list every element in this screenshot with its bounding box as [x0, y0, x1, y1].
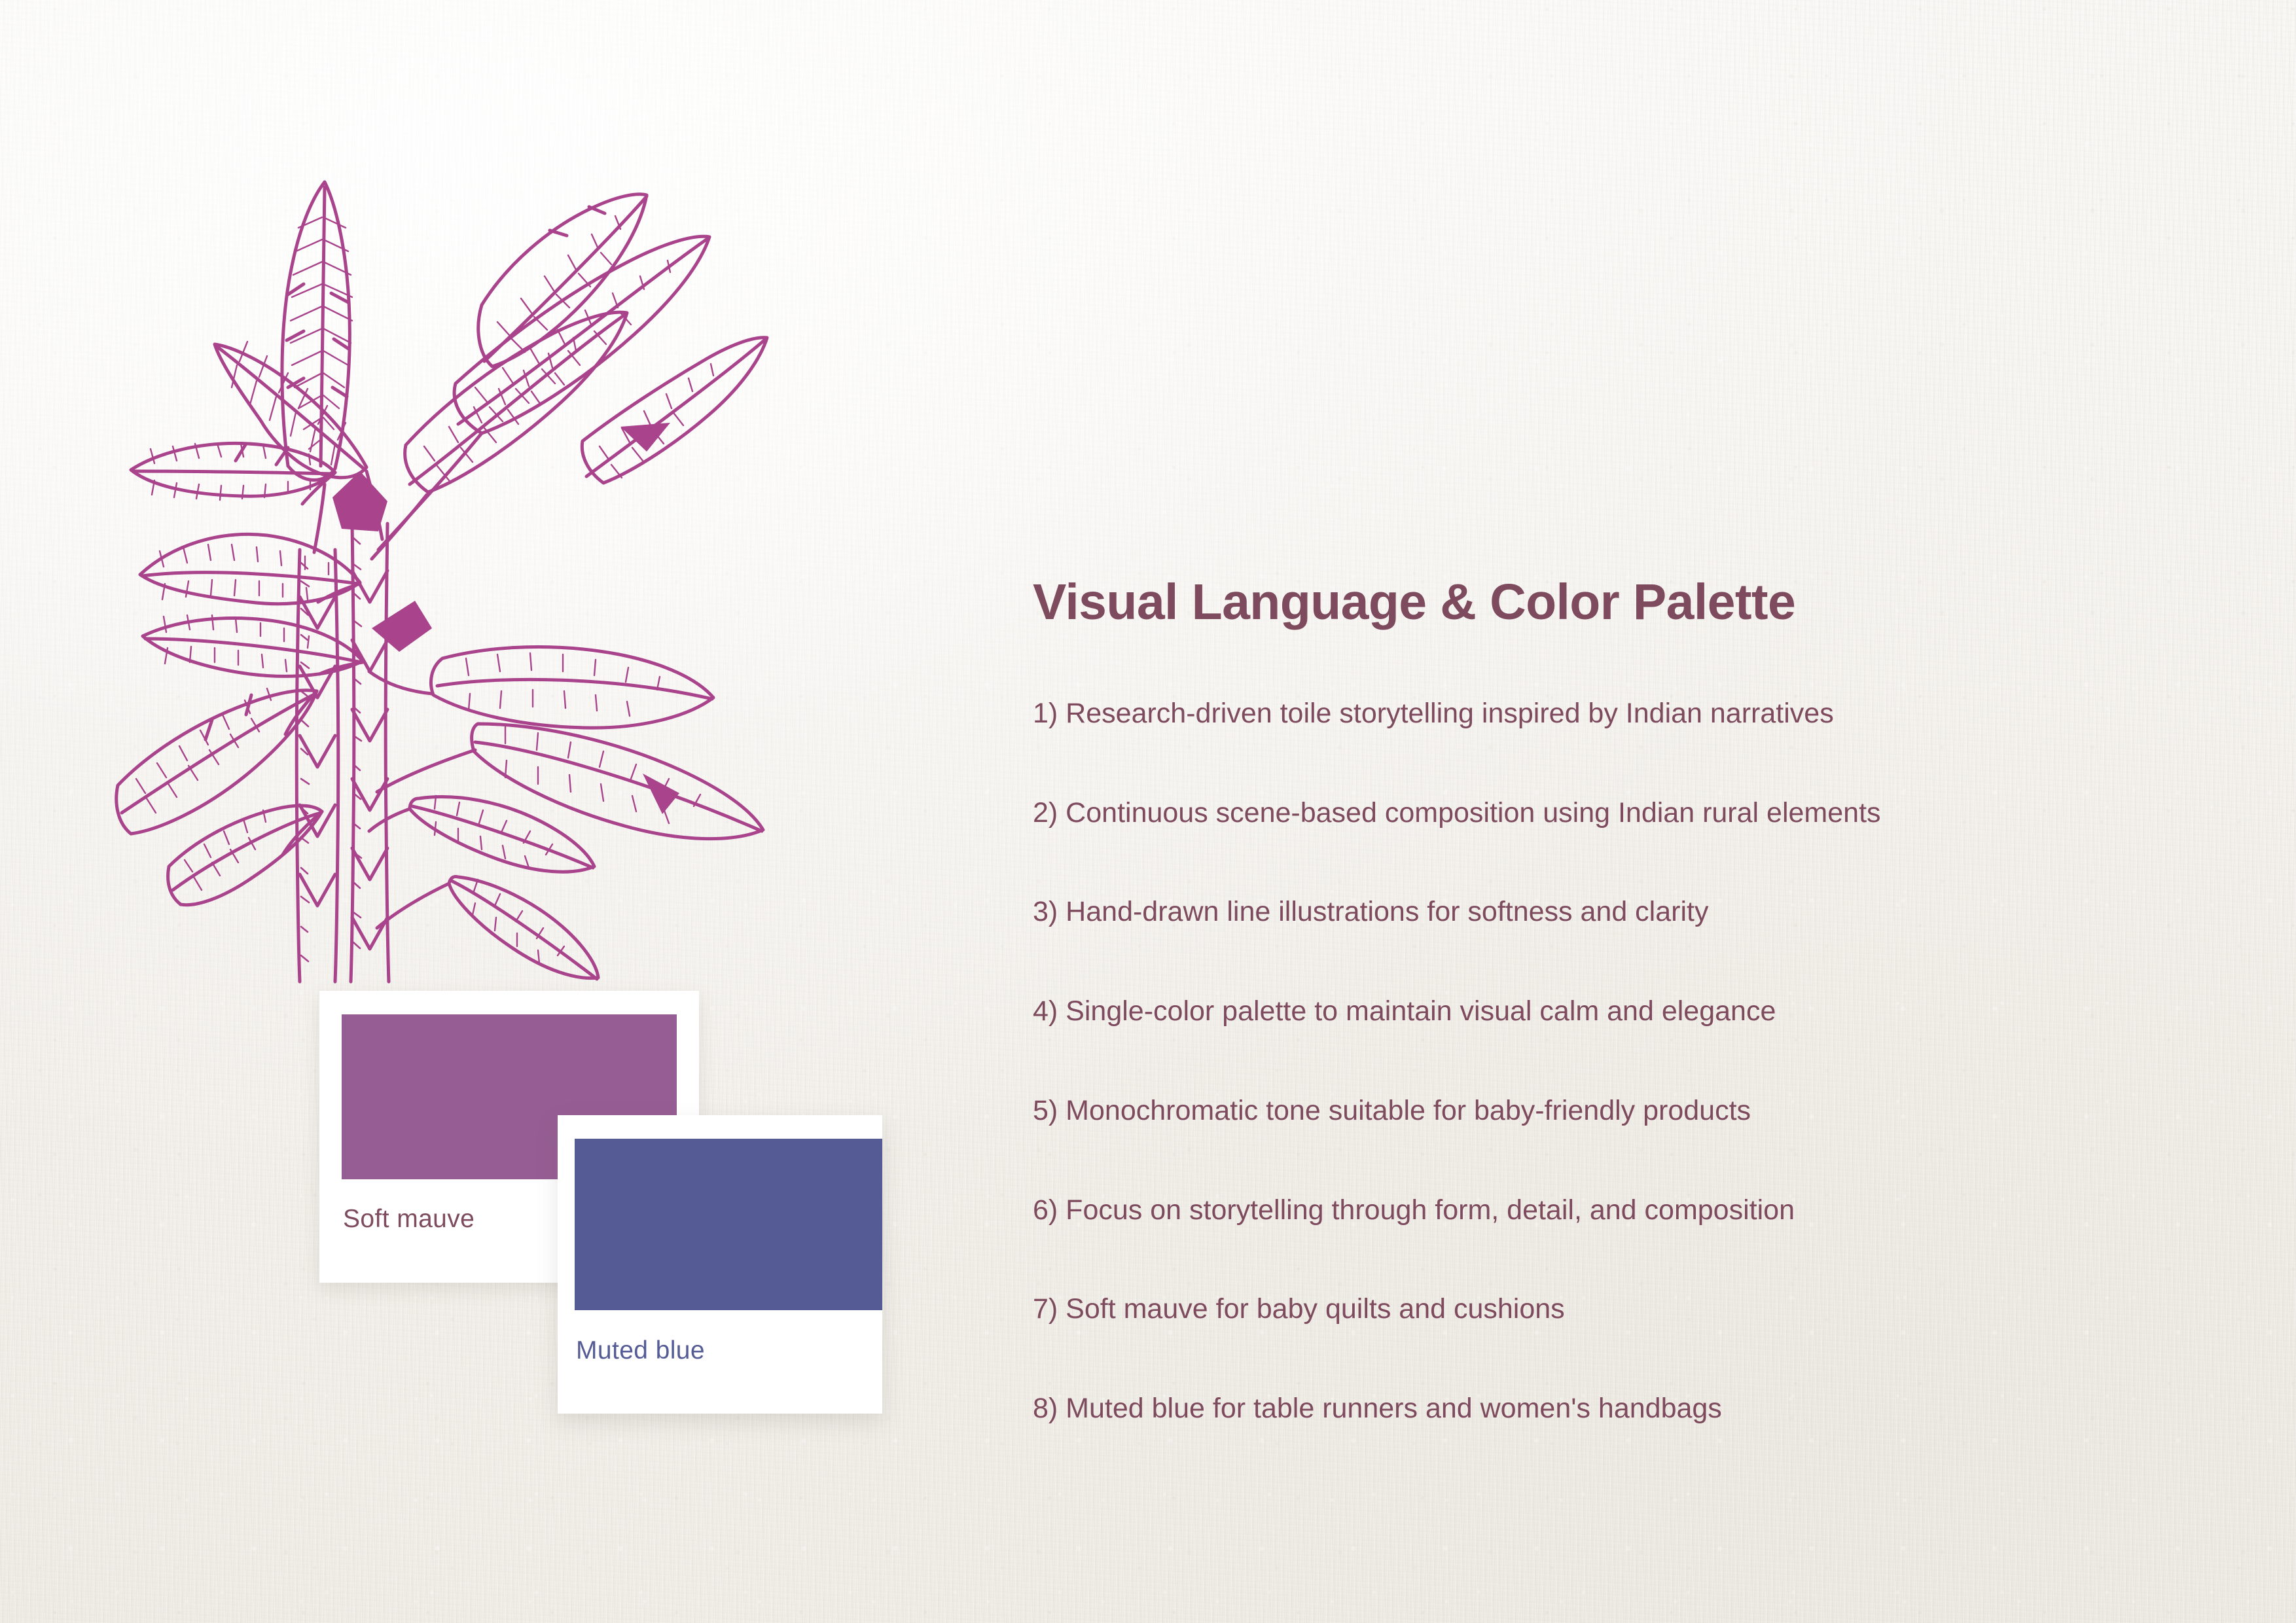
list-item: 8) Muted blue for table runners and wome…	[1033, 1391, 2211, 1427]
color-label-soft-mauve: Soft mauve	[343, 1205, 475, 1234]
swatch-card-muted-blue[interactable]: Muted blue	[558, 1115, 882, 1414]
list-item: 6) Focus on storytelling through form, d…	[1033, 1193, 2211, 1228]
key-points-list: 1) Research-driven toile storytelling in…	[1033, 696, 2211, 1427]
page-title: Visual Language & Color Palette	[1033, 576, 2211, 629]
content-column: Visual Language & Color Palette 1) Resea…	[1033, 576, 2211, 1427]
color-chip-muted-blue	[575, 1139, 882, 1310]
list-item: 4) Single-color palette to maintain visu…	[1033, 994, 2211, 1029]
list-item: 2) Continuous scene-based composition us…	[1033, 796, 2211, 831]
list-item: 1) Research-driven toile storytelling in…	[1033, 696, 2211, 732]
banana-palm-tree-illustration	[92, 131, 812, 1047]
list-item: 7) Soft mauve for baby quilts and cushio…	[1033, 1292, 2211, 1327]
slide-canvas: Soft mauve Muted blue Visual Language & …	[0, 0, 2296, 1623]
list-item: 5) Monochromatic tone suitable for baby-…	[1033, 1094, 2211, 1129]
banana-palm-tree-svg	[92, 131, 812, 1047]
list-item: 3) Hand-drawn line illustrations for sof…	[1033, 895, 2211, 930]
color-label-muted-blue: Muted blue	[576, 1336, 705, 1365]
